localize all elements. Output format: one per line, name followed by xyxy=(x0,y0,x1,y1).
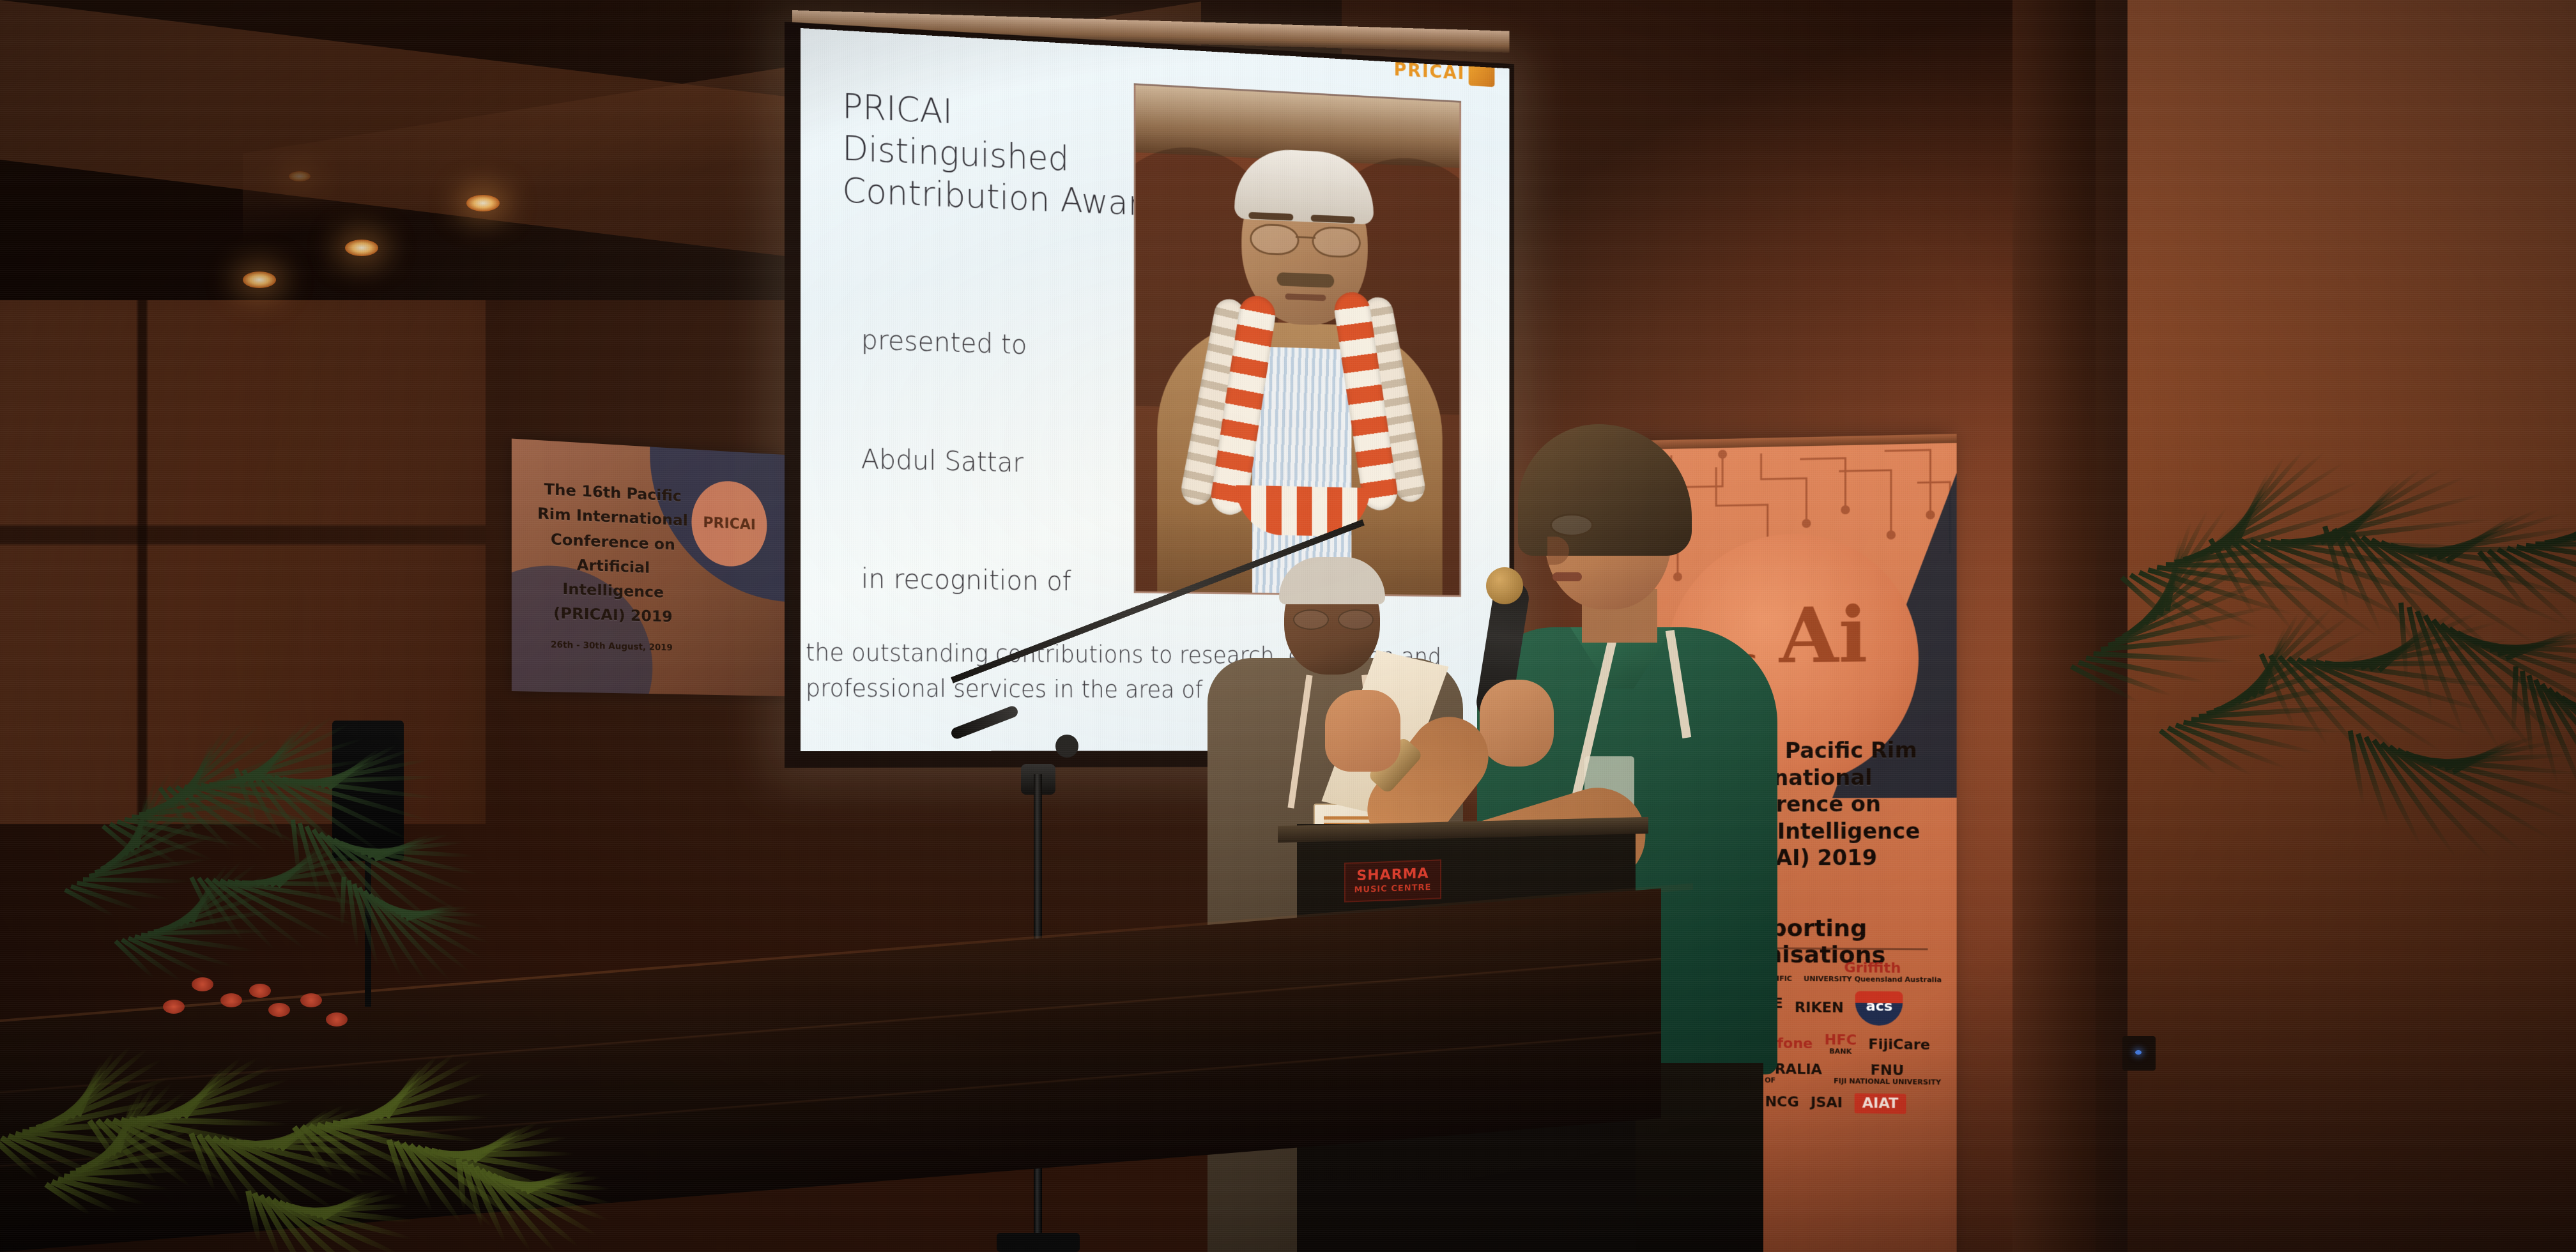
microphone-head-icon xyxy=(1486,567,1523,604)
slide-recipient-name: Abdul Sattar xyxy=(861,443,1023,478)
sponsor-subtitle: UNIVERSITY Queensland Australia xyxy=(1804,975,1942,984)
sponsor-logo: AIAT xyxy=(1854,1093,1906,1114)
sponsor-logo: RIKEN xyxy=(1795,1000,1844,1016)
poster-title: The 16th Pacific Rim International Confe… xyxy=(536,477,689,630)
potted-palm-right xyxy=(1993,460,2576,1035)
flower xyxy=(163,1000,185,1014)
flower xyxy=(268,1003,290,1017)
poster-logo-text: PRICAI xyxy=(703,514,756,533)
wall-poster-left: PRICAI The 16th Pacific Rim Internationa… xyxy=(512,439,785,696)
foliage-foreground-left xyxy=(0,1099,549,1252)
flower xyxy=(220,993,242,1007)
potted-palm-left xyxy=(26,728,511,1086)
slide-title: PRICAI Distinguished Contribution Award xyxy=(842,85,1161,224)
boom-joint xyxy=(1055,735,1078,758)
photo-scene: PRICAI PRICAI Distinguished Contribution… xyxy=(0,0,2576,1252)
award-recipient-portrait xyxy=(1134,83,1461,597)
podium-sponsor-sign: SHARMA MUSIC CENTRE xyxy=(1344,859,1441,902)
sponsor-name: RIKEN xyxy=(1795,1000,1844,1016)
slide-presented-to-label: presented to xyxy=(861,324,1027,360)
flower xyxy=(326,1012,348,1027)
slide-in-recognition-label: in recognition of xyxy=(861,563,1071,597)
ceiling-downlight-3 xyxy=(466,195,500,211)
sponsor-name: FijiCare xyxy=(1868,1037,1930,1052)
sponsor-subtitle: FIJI NATIONAL UNIVERSITY xyxy=(1834,1078,1941,1087)
flower xyxy=(300,993,322,1007)
sponsor-logo: GriffithUNIVERSITY Queensland Australia xyxy=(1804,961,1942,984)
sponsor-name: HFC xyxy=(1825,1033,1857,1048)
ceiling-downlight-4 xyxy=(289,171,310,181)
podium-sign-line1: SHARMA xyxy=(1356,867,1429,883)
sponsor-name: FNU xyxy=(1871,1064,1904,1079)
microphone-stand-base xyxy=(997,1233,1080,1252)
sponsor-name: AIAT xyxy=(1854,1093,1906,1114)
sponsor-logo: HFCBANK xyxy=(1825,1033,1857,1056)
sponsor-name: Griffith xyxy=(1844,961,1901,976)
flower xyxy=(249,984,271,998)
flower xyxy=(192,977,213,991)
sponsor-name: acs xyxy=(1855,991,1903,1025)
ceiling-downlight-1 xyxy=(243,271,276,288)
sponsor-name: JSAI xyxy=(1811,1095,1843,1111)
sponsor-logo: FijiCare xyxy=(1868,1037,1930,1052)
ceiling-downlight-2 xyxy=(345,240,378,256)
sponsor-subtitle: BANK xyxy=(1829,1048,1851,1055)
podium-sign-line2: MUSIC CENTRE xyxy=(1354,883,1432,895)
sponsor-logo: acs xyxy=(1855,991,1903,1025)
wall-sensor-device xyxy=(2122,1036,2156,1071)
sponsor-logo: FNUFIJI NATIONAL UNIVERSITY xyxy=(1834,1063,1941,1087)
sponsor-logo: JSAI xyxy=(1811,1095,1843,1111)
